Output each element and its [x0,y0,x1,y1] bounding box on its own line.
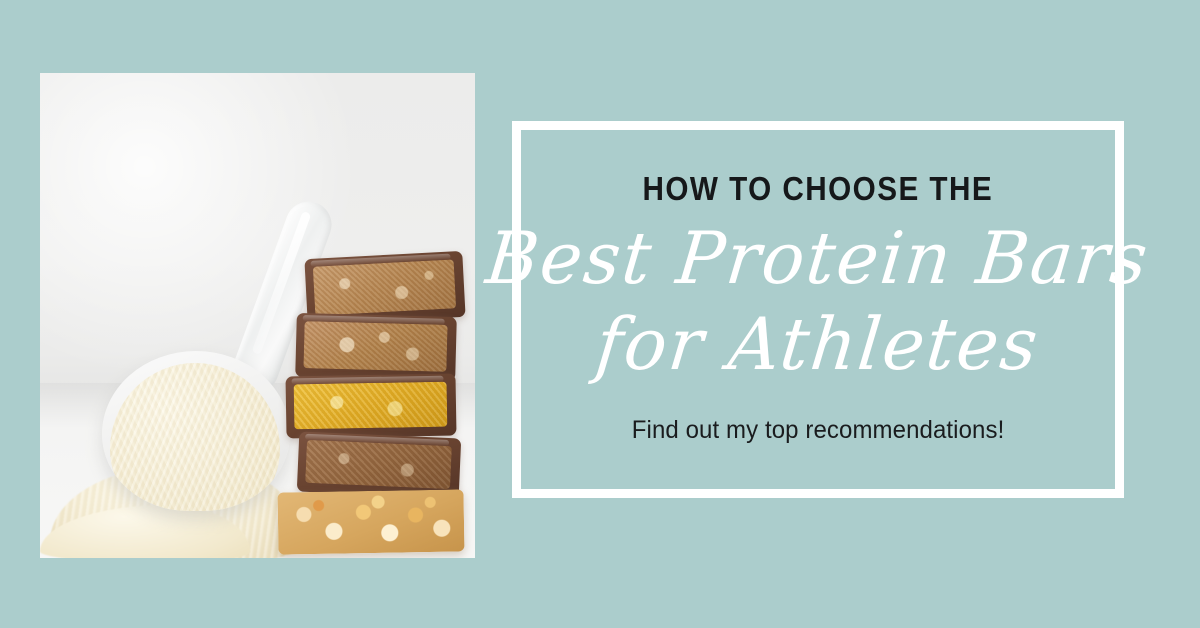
bar-cut-face [305,440,452,489]
blog-header-banner: HOW TO CHOOSE THE Best Protein Bars for … [0,0,1200,628]
protein-bar-stack [278,255,464,558]
protein-powder-in-scoop [110,363,280,511]
bar-cut-face [294,382,448,430]
bar-cut-face [313,259,456,315]
measuring-scoop-bowl [102,351,290,511]
crispy-rice-bar-bottom [277,489,464,554]
protein-bar-third [285,374,456,439]
title-script-line-1: Best Protein Bars [483,222,1153,294]
title-script-line-2: for Athletes [593,308,1043,380]
title-card-framed-panel: HOW TO CHOOSE THE Best Protein Bars for … [512,121,1124,498]
protein-product-photo [40,73,475,558]
eyebrow-heading: HOW TO CHOOSE THE [643,170,994,208]
subtitle-text: Find out my top recommendations! [632,416,1005,445]
bar-cut-face [303,321,447,372]
protein-bar-second [295,313,457,381]
protein-bar-fourth [297,431,461,498]
